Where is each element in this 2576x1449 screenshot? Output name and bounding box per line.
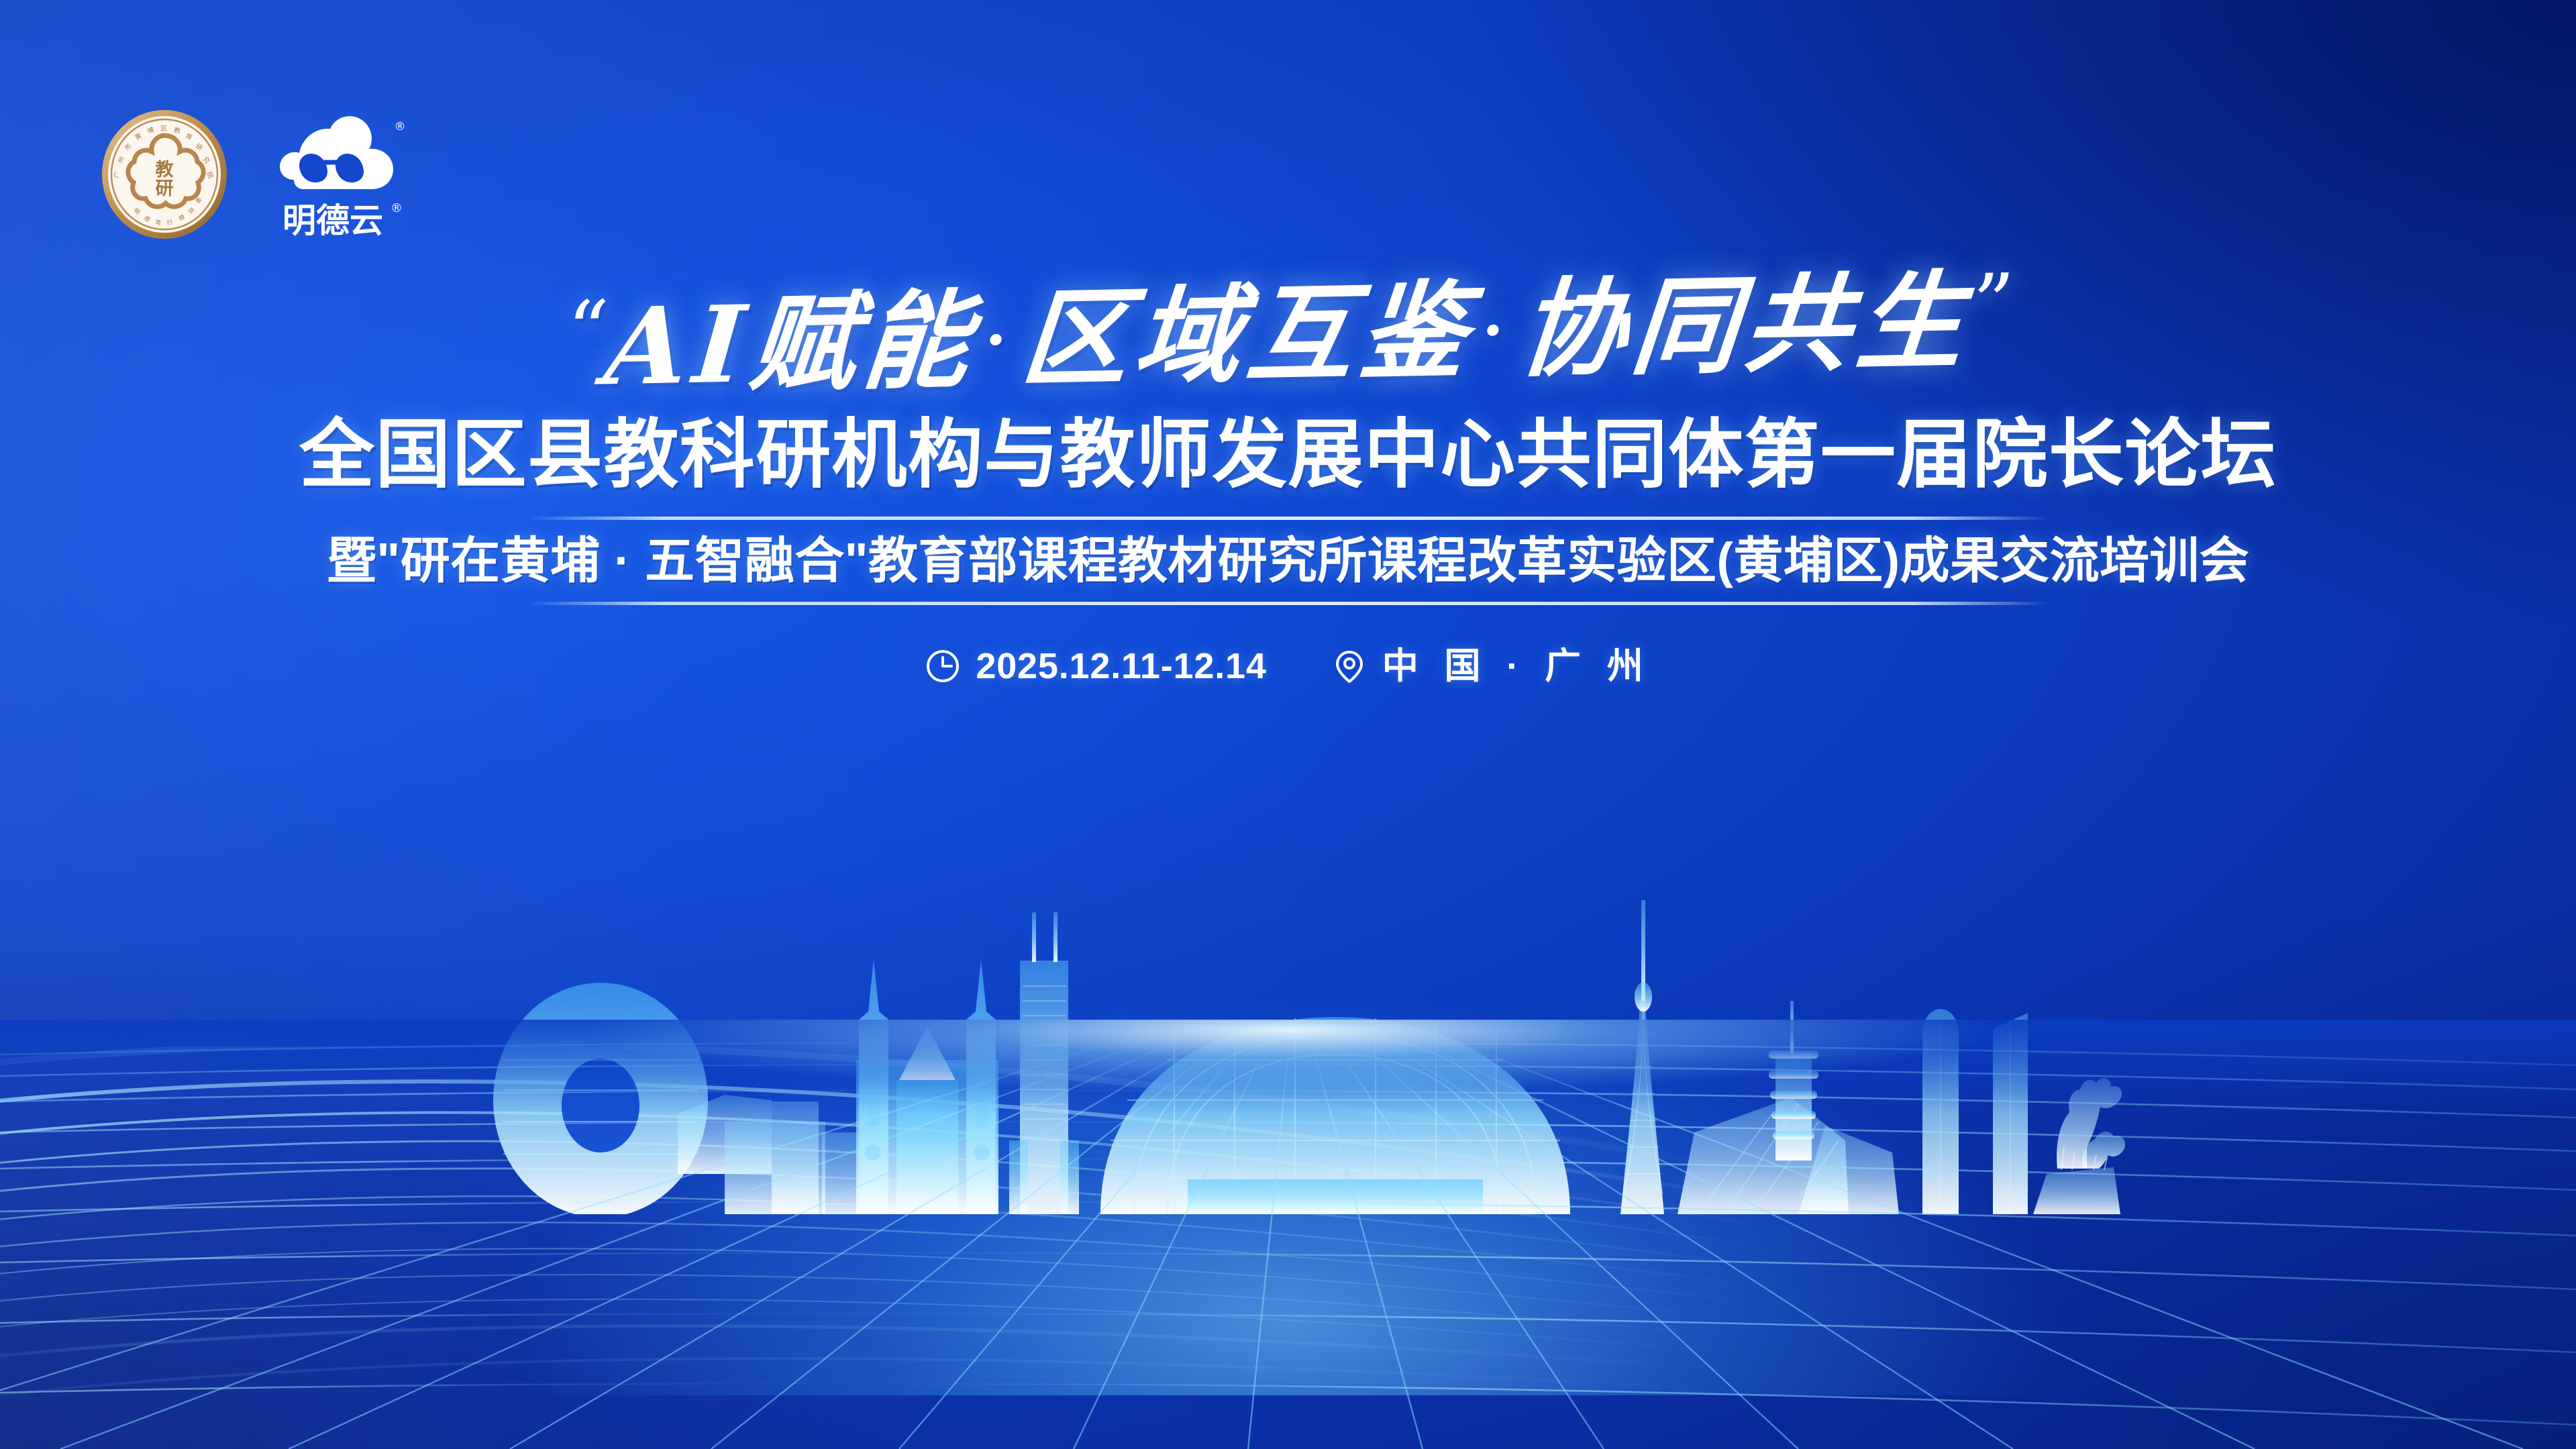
conference-banner: 教 研 广 州 市 黄 埔 区 教 育 研 究 院 明 — [0, 0, 2576, 1449]
svg-text:®: ® — [395, 120, 406, 133]
event-location: 中 国 · 广 州 — [1331, 648, 1651, 684]
svg-text:研: 研 — [156, 178, 174, 199]
logo-row: 教 研 广 州 市 黄 埔 区 教 育 研 究 院 明 — [101, 101, 409, 248]
slogan-close-quote: ” — [1967, 257, 2016, 351]
slogan-part-2: 区域互鉴 — [1017, 269, 1478, 402]
location-pin-icon — [1331, 648, 1368, 684]
mingdeyun-logo: ® 明德云 ® — [268, 101, 409, 248]
institute-seal-icon: 教 研 广 州 市 黄 埔 区 教 育 研 究 院 明 — [101, 109, 228, 240]
perspective-grid-floor — [0, 1020, 2576, 1449]
main-slogan: “AI赋能·区域互鉴·协同共生” — [554, 268, 2023, 402]
event-meta-row: 2025.12.11-12.14 中 国 · 广 州 — [0, 648, 2576, 684]
slogan-separator-1: · — [973, 303, 1026, 376]
slogan-part-1: AI赋能 — [601, 278, 981, 410]
slogan-part-3: 协同共生 — [1514, 260, 1975, 392]
event-date: 2025.12.11-12.14 — [925, 648, 1266, 684]
mingdeyun-label: 明德云 ® — [282, 201, 403, 240]
event-date-text: 2025.12.11-12.14 — [976, 648, 1266, 684]
forum-subtitle: 暨"研在黄埔 · 五智融合"教育部课程教材研究所课程改革实验区(黄埔区)成果交流… — [327, 520, 2249, 602]
svg-text:明德云: 明德云 — [282, 201, 383, 240]
forum-title: 全国区县教科研机构与教师发展中心共同体第一届院长论坛 — [0, 411, 2576, 499]
event-location-text: 中 国 · 广 州 — [1382, 648, 1651, 684]
headline-block: “AI赋能·区域互鉴·协同共生” 全国区县教科研机构与教师发展中心共同体第一届院… — [0, 282, 2576, 684]
floor-horizon-glow — [0, 1020, 2576, 1107]
subtitle-block: 暨"研在黄埔 · 五智融合"教育部课程教材研究所课程改革实验区(黄埔区)成果交流… — [0, 517, 2576, 605]
cloud-glasses-logo-icon: ® — [280, 116, 406, 189]
svg-text:区: 区 — [160, 125, 168, 133]
divider-bottom — [527, 602, 2050, 605]
clock-icon — [925, 648, 961, 684]
svg-text:®: ® — [391, 201, 403, 215]
slogan-separator-2: · — [1470, 293, 1523, 366]
svg-text:教: 教 — [156, 160, 174, 180]
